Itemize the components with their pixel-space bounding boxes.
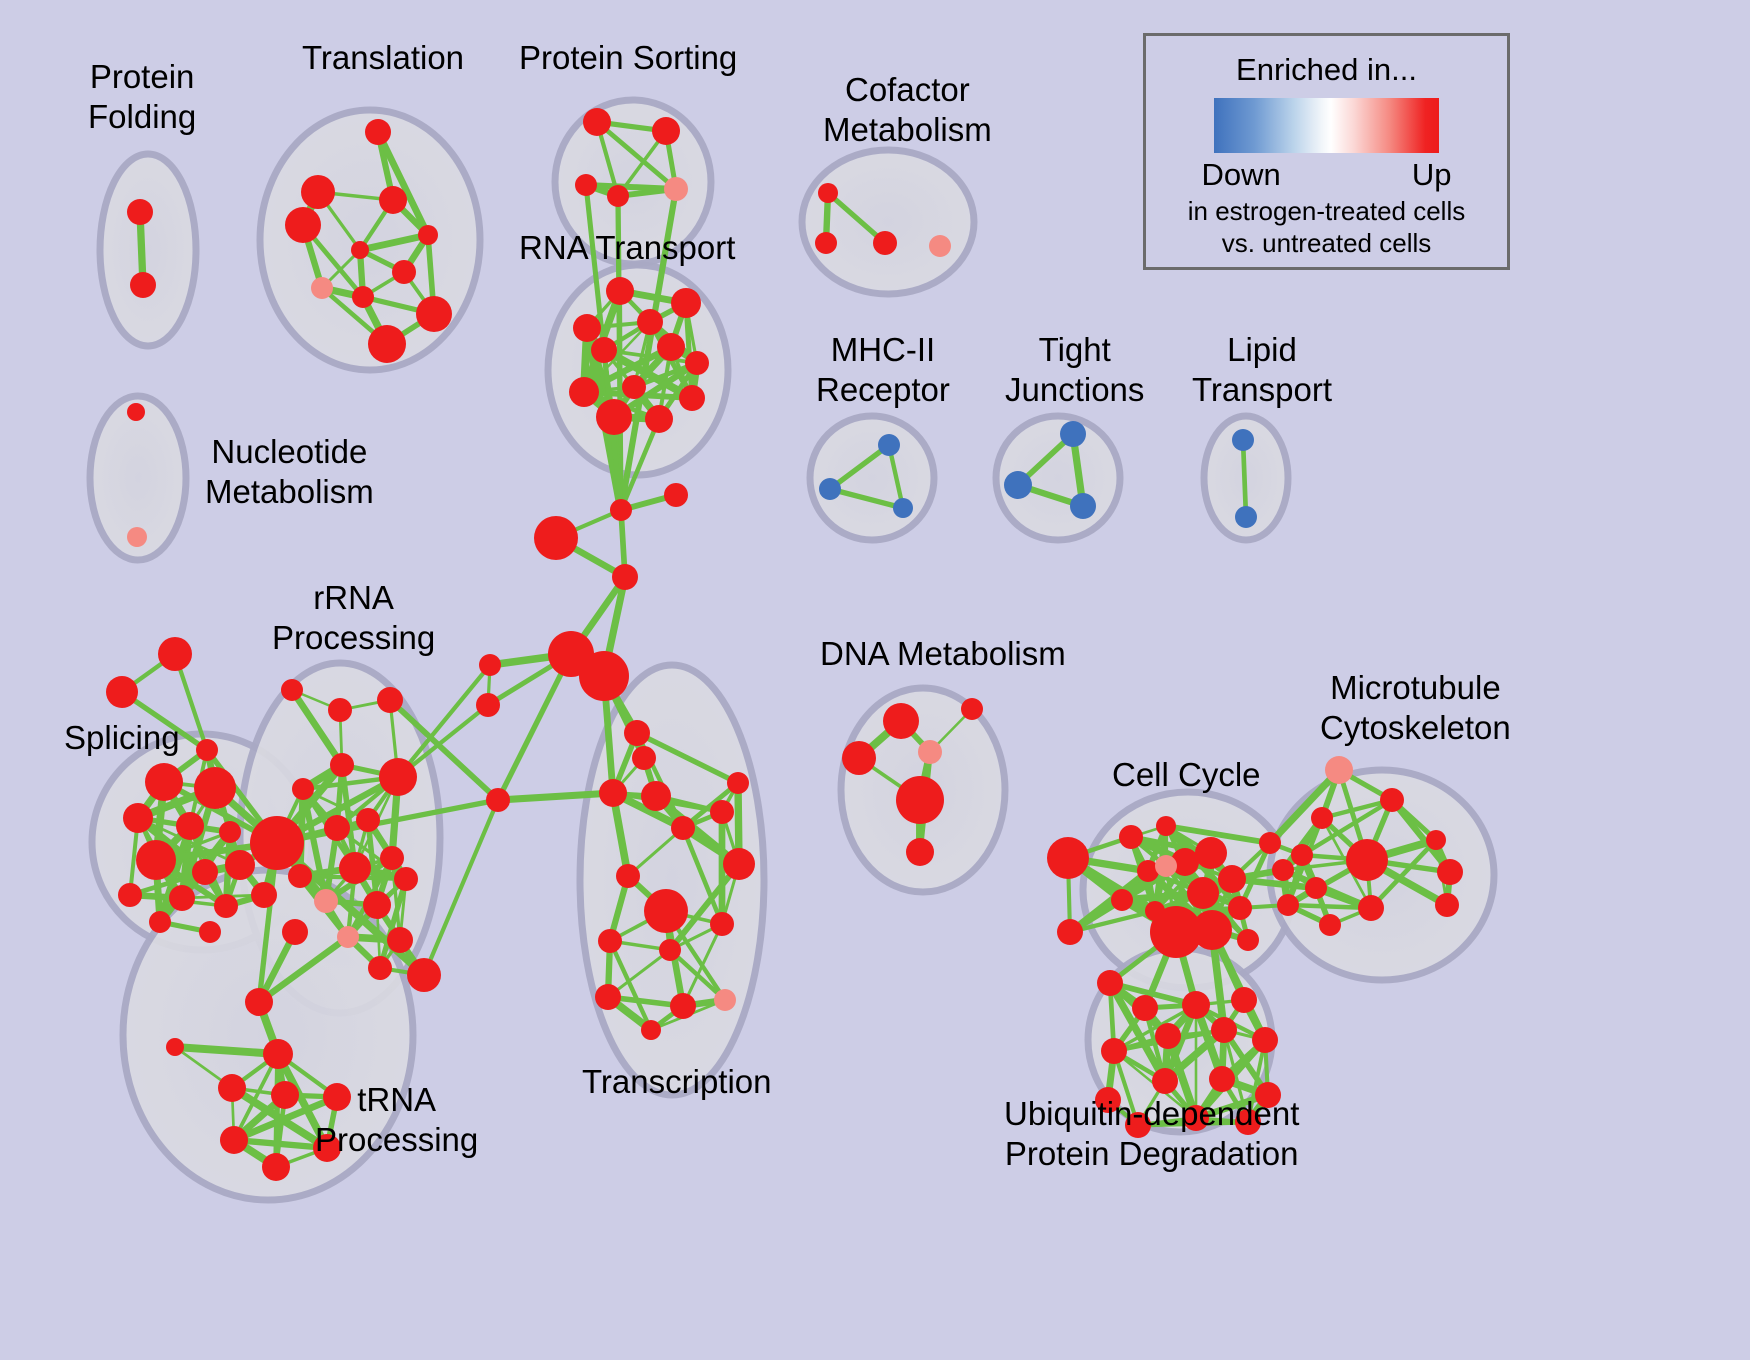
legend-color-gradient-bar bbox=[1214, 98, 1439, 153]
network-node[interactable] bbox=[220, 1126, 248, 1154]
network-node[interactable] bbox=[314, 889, 338, 913]
network-node[interactable] bbox=[645, 405, 673, 433]
network-node[interactable] bbox=[407, 958, 441, 992]
network-node[interactable] bbox=[1358, 895, 1384, 921]
network-node[interactable] bbox=[1057, 919, 1083, 945]
legend-caption-line1: in estrogen-treated cells bbox=[1188, 195, 1465, 227]
network-node[interactable] bbox=[569, 377, 599, 407]
network-node[interactable] bbox=[218, 1074, 246, 1102]
network-node[interactable] bbox=[896, 776, 944, 824]
network-node[interactable] bbox=[368, 325, 406, 363]
network-node[interactable] bbox=[1237, 929, 1259, 951]
network-node[interactable] bbox=[176, 812, 204, 840]
network-node[interactable] bbox=[169, 885, 195, 911]
network-node[interactable] bbox=[1255, 1082, 1281, 1108]
network-node[interactable] bbox=[652, 117, 680, 145]
network-node[interactable] bbox=[282, 919, 308, 945]
network-node[interactable] bbox=[596, 399, 632, 435]
network-node[interactable] bbox=[918, 740, 942, 764]
network-node[interactable] bbox=[893, 498, 913, 518]
network-node[interactable] bbox=[657, 333, 685, 361]
network-node[interactable] bbox=[883, 703, 919, 739]
network-node[interactable] bbox=[1095, 1087, 1121, 1113]
network-node[interactable] bbox=[819, 478, 841, 500]
network-node[interactable] bbox=[219, 821, 241, 843]
network-node[interactable] bbox=[1435, 893, 1459, 917]
network-node[interactable] bbox=[1218, 865, 1246, 893]
network-node[interactable] bbox=[641, 1020, 661, 1040]
network-node[interactable] bbox=[486, 788, 510, 812]
network-node[interactable] bbox=[1235, 1109, 1261, 1135]
network-node[interactable] bbox=[624, 720, 650, 746]
network-node[interactable] bbox=[679, 385, 705, 411]
network-node[interactable] bbox=[906, 838, 934, 866]
network-node[interactable] bbox=[573, 314, 601, 342]
network-node[interactable] bbox=[281, 679, 303, 701]
network-node[interactable] bbox=[616, 864, 640, 888]
network-node[interactable] bbox=[1183, 1105, 1209, 1131]
network-node[interactable] bbox=[479, 654, 501, 676]
network-node[interactable] bbox=[1101, 1038, 1127, 1064]
network-node[interactable] bbox=[476, 693, 500, 717]
network-node[interactable] bbox=[659, 939, 681, 961]
network-node[interactable] bbox=[534, 516, 578, 560]
network-node[interactable] bbox=[214, 894, 238, 918]
network-node[interactable] bbox=[873, 231, 897, 255]
network-node[interactable] bbox=[598, 929, 622, 953]
network-node[interactable] bbox=[285, 207, 321, 243]
network-node[interactable] bbox=[118, 883, 142, 907]
network-node[interactable] bbox=[1182, 991, 1210, 1019]
cluster-ellipse-mhc-ii-receptor[interactable] bbox=[810, 416, 934, 540]
network-node[interactable] bbox=[392, 260, 416, 284]
network-node[interactable] bbox=[292, 778, 314, 800]
network-node[interactable] bbox=[250, 816, 304, 870]
network-node[interactable] bbox=[288, 864, 312, 888]
legend-panel: Enriched in... Down Up in estrogen-treat… bbox=[1143, 33, 1510, 270]
network-node[interactable] bbox=[324, 815, 350, 841]
legend-low-label: Down bbox=[1202, 157, 1281, 193]
network-node[interactable] bbox=[610, 499, 632, 521]
network-node[interactable] bbox=[664, 177, 688, 201]
network-node[interactable] bbox=[818, 183, 838, 203]
network-node[interactable] bbox=[127, 403, 145, 421]
network-node[interactable] bbox=[379, 758, 417, 796]
network-node[interactable] bbox=[599, 779, 627, 807]
network-node[interactable] bbox=[1232, 429, 1254, 451]
enrichment-network-figure: Protein FoldingTranslationProtein Sortin… bbox=[0, 0, 1750, 1360]
network-node[interactable] bbox=[1195, 837, 1227, 869]
network-node[interactable] bbox=[606, 277, 634, 305]
network-node[interactable] bbox=[123, 803, 153, 833]
network-node[interactable] bbox=[671, 288, 701, 318]
legend-caption-line2: vs. untreated cells bbox=[1188, 227, 1465, 259]
network-node[interactable] bbox=[815, 232, 837, 254]
network-node[interactable] bbox=[714, 989, 736, 1011]
network-node[interactable] bbox=[1211, 1017, 1237, 1043]
network-node[interactable] bbox=[575, 174, 597, 196]
network-node[interactable] bbox=[363, 891, 391, 919]
network-node[interactable] bbox=[1119, 825, 1143, 849]
network-node[interactable] bbox=[136, 840, 176, 880]
network-node[interactable] bbox=[311, 277, 333, 299]
network-node[interactable] bbox=[263, 1039, 293, 1069]
network-node[interactable] bbox=[158, 637, 192, 671]
network-node[interactable] bbox=[1311, 807, 1333, 829]
network-node[interactable] bbox=[1291, 844, 1313, 866]
cluster-ellipse-protein-folding[interactable] bbox=[100, 154, 196, 346]
network-node[interactable] bbox=[1097, 970, 1123, 996]
network-node[interactable] bbox=[127, 199, 153, 225]
network-node[interactable] bbox=[710, 800, 734, 824]
network-node[interactable] bbox=[1060, 421, 1086, 447]
legend-title: Enriched in... bbox=[1236, 52, 1417, 88]
network-node[interactable] bbox=[632, 746, 656, 770]
network-node[interactable] bbox=[339, 852, 371, 884]
network-node[interactable] bbox=[1231, 987, 1257, 1013]
network-node[interactable] bbox=[106, 676, 138, 708]
network-node[interactable] bbox=[1235, 506, 1257, 528]
network-edge bbox=[276, 1054, 278, 1167]
network-node[interactable] bbox=[1125, 1112, 1151, 1138]
network-node[interactable] bbox=[262, 1153, 290, 1181]
network-node[interactable] bbox=[149, 911, 171, 933]
network-node[interactable] bbox=[1152, 1068, 1178, 1094]
network-node[interactable] bbox=[1277, 894, 1299, 916]
network-node[interactable] bbox=[1252, 1027, 1278, 1053]
network-node[interactable] bbox=[301, 175, 335, 209]
network-node[interactable] bbox=[1132, 995, 1158, 1021]
network-node[interactable] bbox=[1426, 830, 1446, 850]
legend-caption: in estrogen-treated cells vs. untreated … bbox=[1188, 195, 1465, 259]
network-node[interactable] bbox=[330, 753, 354, 777]
network-node[interactable] bbox=[670, 993, 696, 1019]
network-node[interactable] bbox=[323, 1083, 351, 1111]
network-node[interactable] bbox=[225, 850, 255, 880]
network-node[interactable] bbox=[196, 739, 218, 761]
network-node[interactable] bbox=[245, 988, 273, 1016]
network-node[interactable] bbox=[1047, 837, 1089, 879]
network-node[interactable] bbox=[377, 687, 403, 713]
network-node[interactable] bbox=[1272, 859, 1294, 881]
network-node[interactable] bbox=[641, 781, 671, 811]
network-node[interactable] bbox=[394, 867, 418, 891]
network-node[interactable] bbox=[379, 186, 407, 214]
network-node[interactable] bbox=[671, 816, 695, 840]
network-node[interactable] bbox=[271, 1081, 299, 1109]
network-node[interactable] bbox=[878, 434, 900, 456]
network-node[interactable] bbox=[145, 763, 183, 801]
network-node[interactable] bbox=[583, 108, 611, 136]
network-node[interactable] bbox=[664, 483, 688, 507]
network-node[interactable] bbox=[685, 351, 709, 375]
network-node[interactable] bbox=[1346, 839, 1388, 881]
network-node[interactable] bbox=[1325, 756, 1353, 784]
network-node[interactable] bbox=[961, 698, 983, 720]
network-node[interactable] bbox=[637, 309, 663, 335]
network-node[interactable] bbox=[356, 808, 380, 832]
network-node[interactable] bbox=[723, 848, 755, 880]
network-node[interactable] bbox=[352, 286, 374, 308]
network-node[interactable] bbox=[192, 859, 218, 885]
network-node[interactable] bbox=[1187, 877, 1219, 909]
network-node[interactable] bbox=[842, 741, 876, 775]
network-node[interactable] bbox=[199, 921, 221, 943]
network-node[interactable] bbox=[1319, 914, 1341, 936]
network-node[interactable] bbox=[387, 927, 413, 953]
network-node[interactable] bbox=[130, 272, 156, 298]
network-node[interactable] bbox=[127, 527, 147, 547]
network-node[interactable] bbox=[337, 926, 359, 948]
network-node[interactable] bbox=[929, 235, 951, 257]
network-node[interactable] bbox=[1380, 788, 1404, 812]
network-node[interactable] bbox=[727, 772, 749, 794]
network-node[interactable] bbox=[365, 119, 391, 145]
network-node[interactable] bbox=[313, 1134, 341, 1162]
network-node[interactable] bbox=[1228, 896, 1252, 920]
legend-endpoint-labels: Down Up bbox=[1202, 157, 1452, 193]
network-node[interactable] bbox=[351, 241, 369, 259]
network-node[interactable] bbox=[710, 912, 734, 936]
network-node[interactable] bbox=[416, 296, 452, 332]
network-node[interactable] bbox=[368, 956, 392, 980]
network-node[interactable] bbox=[418, 225, 438, 245]
network-edge bbox=[1243, 440, 1246, 517]
network-node[interactable] bbox=[194, 767, 236, 809]
network-node[interactable] bbox=[644, 889, 688, 933]
network-node[interactable] bbox=[579, 651, 629, 701]
network-node[interactable] bbox=[1070, 493, 1096, 519]
network-node[interactable] bbox=[1192, 910, 1232, 950]
network-node[interactable] bbox=[1004, 471, 1032, 499]
network-node[interactable] bbox=[1437, 859, 1463, 885]
network-node[interactable] bbox=[1209, 1066, 1235, 1092]
network-node[interactable] bbox=[612, 564, 638, 590]
network-node[interactable] bbox=[1259, 832, 1281, 854]
network-node[interactable] bbox=[1111, 889, 1133, 911]
network-node[interactable] bbox=[166, 1038, 184, 1056]
network-node[interactable] bbox=[328, 698, 352, 722]
network-node[interactable] bbox=[1155, 1023, 1181, 1049]
network-node[interactable] bbox=[1156, 816, 1176, 836]
legend-high-label: Up bbox=[1412, 157, 1452, 193]
network-node[interactable] bbox=[591, 337, 617, 363]
network-node[interactable] bbox=[607, 185, 629, 207]
network-node[interactable] bbox=[622, 375, 646, 399]
network-node[interactable] bbox=[251, 882, 277, 908]
network-node[interactable] bbox=[595, 984, 621, 1010]
network-node[interactable] bbox=[1305, 877, 1327, 899]
network-node[interactable] bbox=[380, 846, 404, 870]
network-node[interactable] bbox=[1155, 855, 1177, 877]
